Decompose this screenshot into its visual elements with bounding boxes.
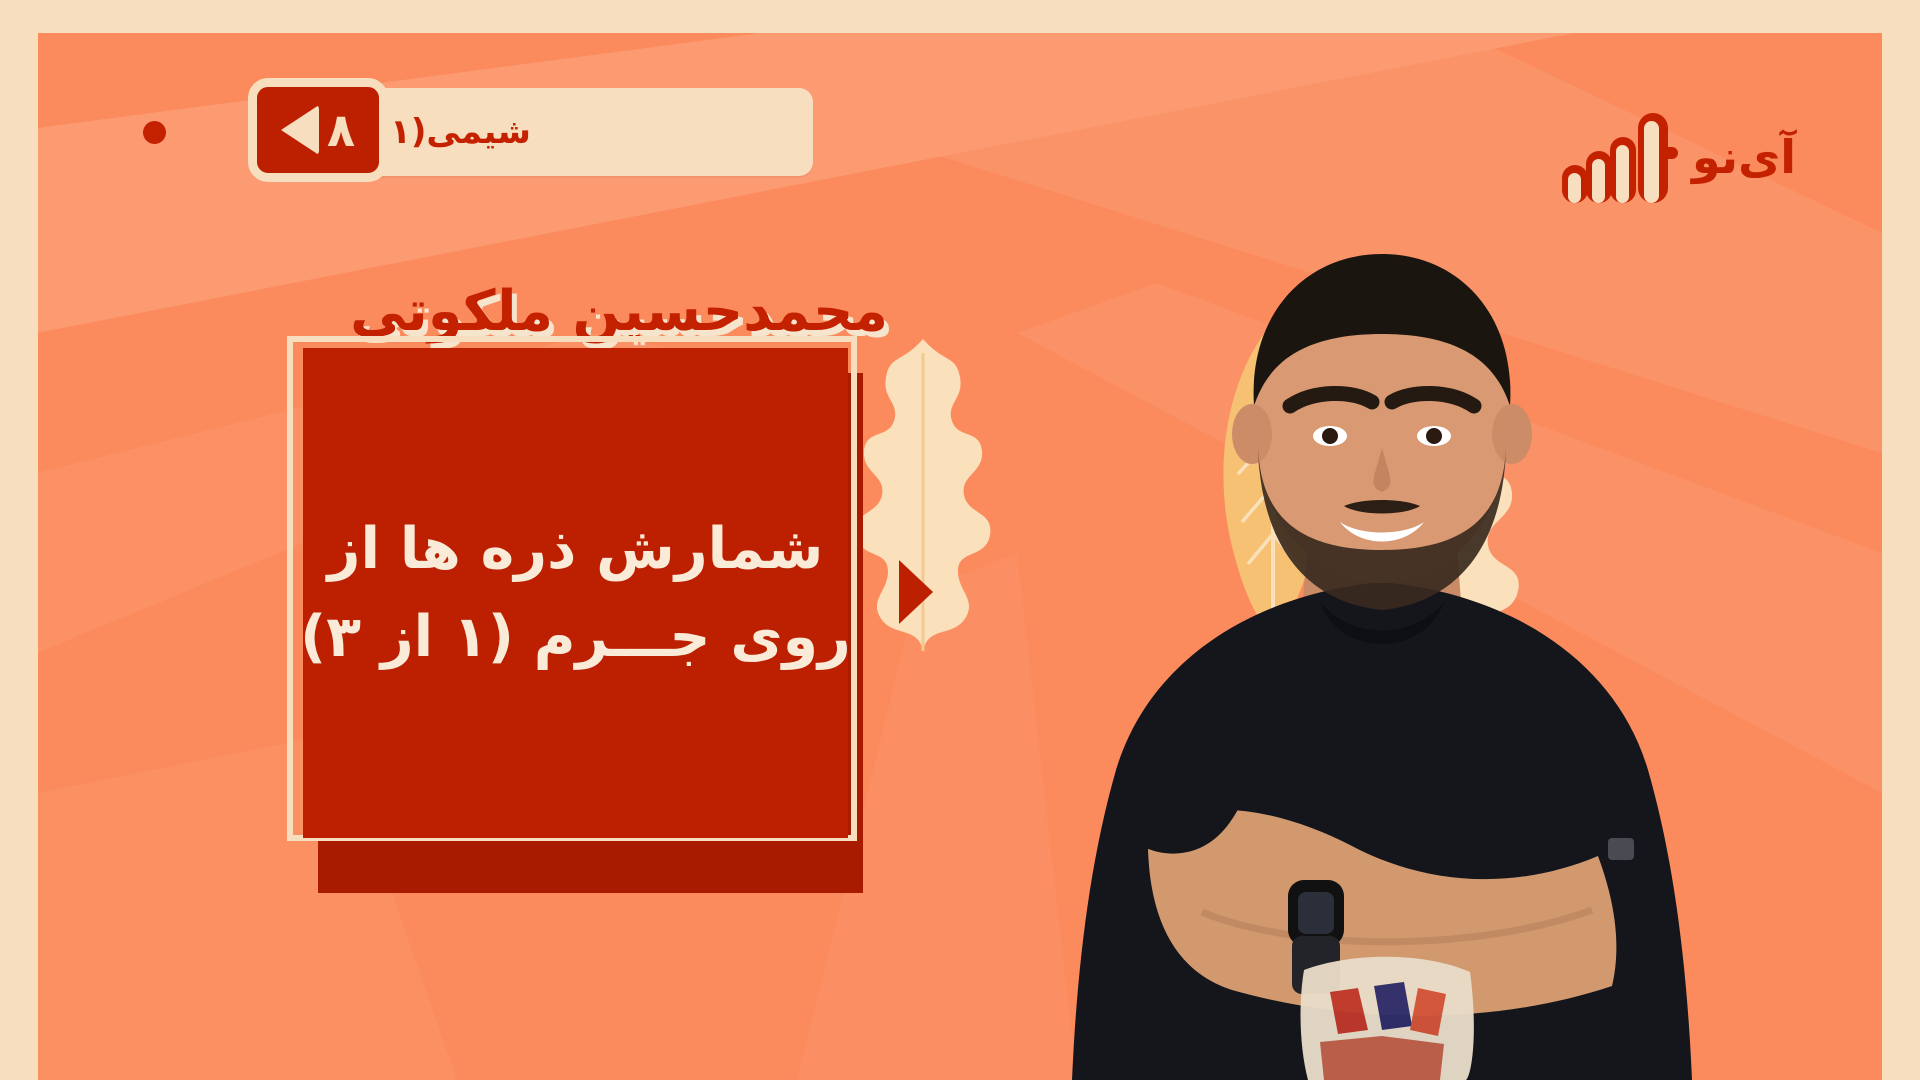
teacher-name: محمدحسین ملکوتی <box>368 281 888 343</box>
title-chevron-icon <box>899 560 933 624</box>
episode-badge[interactable]: ۸ <box>248 78 388 182</box>
title-line-1: شمارش ذره ها از <box>300 505 851 593</box>
instructor-portrait <box>1052 210 1712 1080</box>
title-card-body: شمارش ذره ها از روی جـــرم (۱ از ۳) <box>303 348 848 838</box>
bar-chart-hand-logo-icon <box>1560 111 1678 203</box>
brand-logo[interactable]: آی‌نو <box>1560 111 1796 203</box>
title-text: شمارش ذره ها از روی جـــرم (۱ از ۳) <box>274 505 877 682</box>
dot-top-left <box>143 121 166 144</box>
title-line-2: روی جـــرم (۱ از ۳) <box>300 593 851 681</box>
brand-name: آی‌نو <box>1692 134 1796 180</box>
thumbnail-canvas: آی‌نو <box>0 0 1920 1080</box>
play-triangle-icon[interactable] <box>281 105 319 155</box>
episode-number: ۸ <box>327 107 355 153</box>
inner-stage: آی‌نو <box>38 33 1882 1080</box>
course-pill[interactable]: شیمی(۱) دهم ۸ <box>253 88 813 176</box>
title-card: شمارش ذره ها از روی جـــرم (۱ از ۳) <box>303 348 893 893</box>
